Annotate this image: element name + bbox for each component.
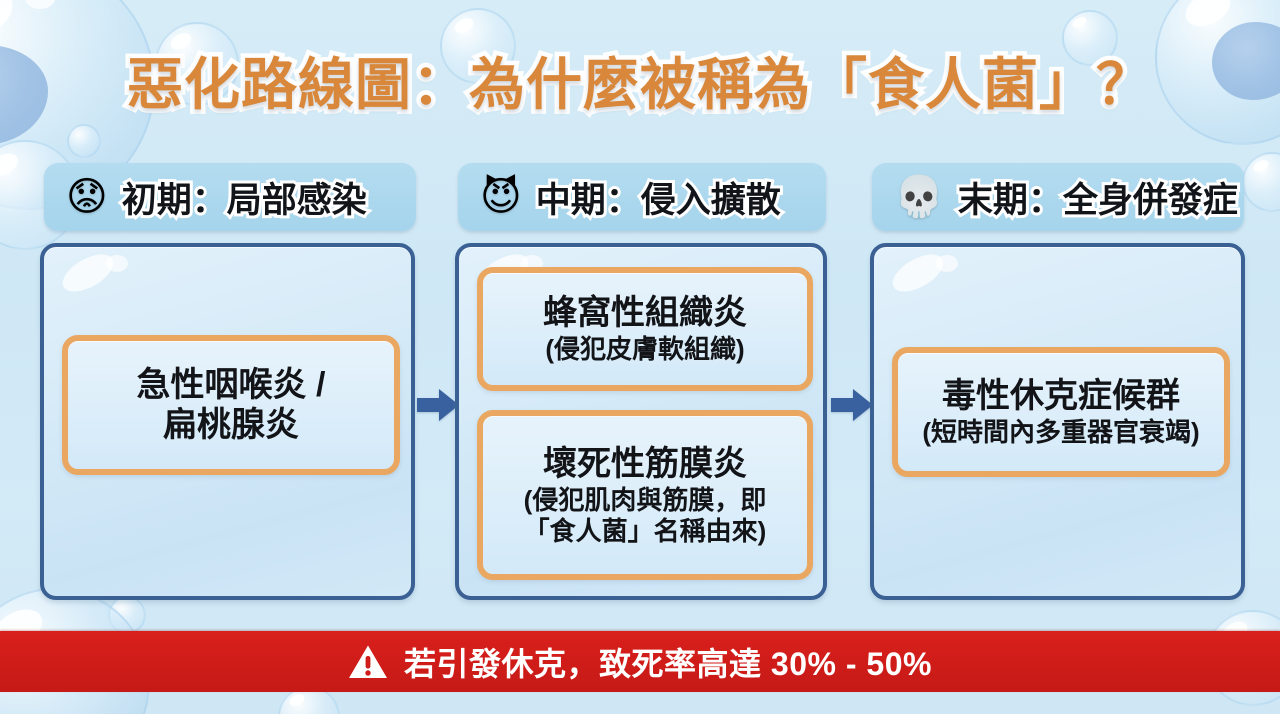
arrow-early-to-middle-icon [417,388,459,422]
stage-header-late: 💀 末期：全身併發症 [872,163,1244,231]
stage-panel-early: 急性咽喉炎 / 扁桃腺炎 [40,243,415,600]
panel-gloss-decor [936,255,958,272]
stage-header-label: 初期：局部感染 [122,172,367,223]
stage-header-early: 😟 初期：局部感染 [44,163,416,231]
worried-face-icon: 😟 [66,177,108,217]
condition-box-necrotizing-fasciitis: 壞死性筋膜炎 (侵犯肌肉與筋膜，即 「食人菌」名稱由來) [477,410,813,580]
devil-face-icon: 😈 [480,177,522,217]
condition-main-text: 急性咽喉炎 / 扁桃腺炎 [137,365,326,445]
condition-box-acute-pharyngitis: 急性咽喉炎 / 扁桃腺炎 [62,335,400,475]
panel-gloss-decor [106,255,128,272]
condition-sub-text: (侵犯皮膚軟組織) [545,334,744,365]
banner-text: 若引發休克，致死率高達 30% - 50% [404,639,932,685]
stage-panel-late: 毒性休克症候群 (短時間內多重器官衰竭) [870,243,1245,600]
arrow-middle-to-late-icon [831,388,873,422]
bubble-decor [108,596,146,634]
bubble-decor [67,124,101,158]
condition-box-toxic-shock-syndrome: 毒性休克症候群 (短時間內多重器官衰竭) [892,347,1230,477]
condition-box-cellulitis: 蜂窩性組織炎 (侵犯皮膚軟組織) [477,267,813,391]
page-title: 惡化路線圖：為什麼被稱為「食人菌」？ [0,40,1280,121]
stage-header-label: 中期：侵入擴散 [536,172,781,223]
condition-sub-text: (短時間內多重器官衰竭) [922,417,1199,448]
bubble-decor [1242,152,1280,212]
condition-sub-text: (侵犯肌肉與筋膜，即 「食人菌」名稱由來) [524,485,767,546]
condition-main-text: 毒性休克症候群 [942,376,1180,416]
stage-panel-middle: 蜂窩性組織炎 (侵犯皮膚軟組織) 壞死性筋膜炎 (侵犯肌肉與筋膜，即 「食人菌」… [455,243,827,600]
mortality-warning-banner: 若引發休克，致死率高達 30% - 50% [0,631,1280,692]
condition-main-text: 蜂窩性組織炎 [543,293,747,333]
condition-main-text: 壞死性筋膜炎 [543,444,747,484]
panel-gloss-decor [887,247,949,299]
stage-header-label: 末期：全身併發症 [958,172,1238,223]
skull-icon: 💀 [894,177,944,217]
stage-header-middle: 😈 中期：侵入擴散 [458,163,826,231]
warning-triangle-icon [348,644,388,680]
panel-gloss-decor [57,247,119,299]
infographic-canvas: 惡化路線圖：為什麼被稱為「食人菌」？ 😟 初期：局部感染 急性咽喉炎 / 扁桃腺… [0,0,1280,714]
